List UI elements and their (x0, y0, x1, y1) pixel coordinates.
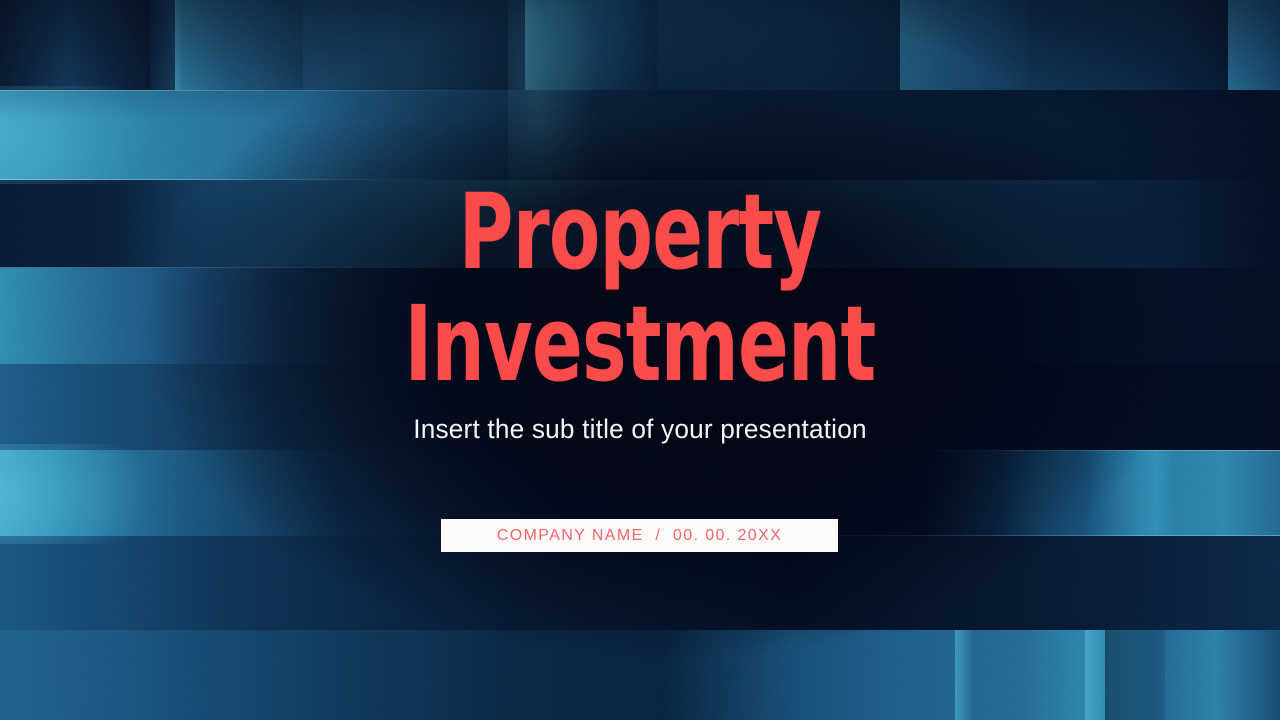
presentation-slide: PropertyInvestment Insert the sub title … (0, 0, 1280, 720)
slide-subtitle: Insert the sub title of your presentatio… (19, 414, 1261, 445)
company-info-bar: COMPANY NAME / 00. 00. 20XX (441, 519, 838, 552)
company-info-text: COMPANY NAME / 00. 00. 20XX (497, 527, 782, 545)
slide-title-line-1: Property (459, 171, 822, 293)
slide-title-line-2: Investment (405, 283, 876, 405)
slide-content: PropertyInvestment Insert the sub title … (0, 0, 1280, 720)
slide-title: PropertyInvestment (128, 176, 1152, 400)
